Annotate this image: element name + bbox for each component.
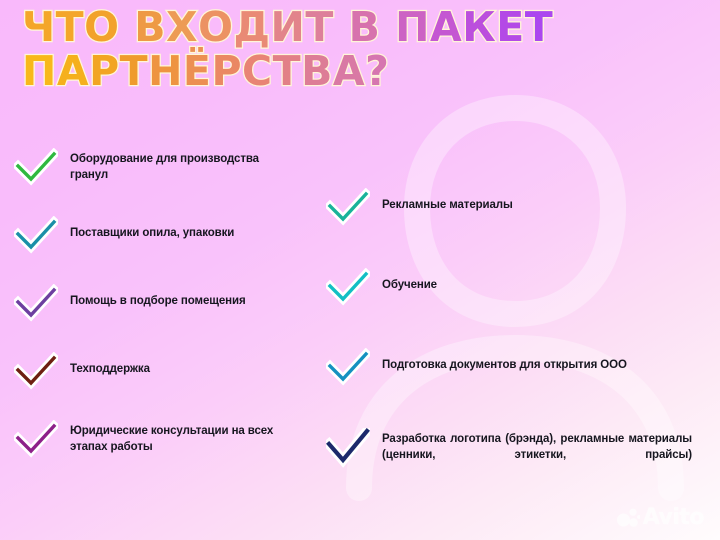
list-item-label: Подготовка документов для открытия ООО (382, 348, 692, 374)
list-item-label: Рекламные материалы (382, 188, 692, 214)
slide-title: ЧТО ВХОДИТ В ПАКЕТ ПАРТНЁРСТВА? (22, 8, 662, 92)
list-item[interactable]: Разработка логотипа (брэнда), рекламные … (326, 428, 711, 480)
title-char: В (134, 8, 166, 47)
title-char: П (395, 8, 430, 47)
list-item-label: Поставщики опила, упаковки (70, 216, 300, 242)
avito-brand-text: Avito (643, 505, 704, 530)
list-item-label: Помощь в подборе помещения (70, 284, 300, 310)
title-char: Е (496, 8, 525, 47)
title-char: Т (273, 52, 301, 91)
check-icon (326, 188, 370, 228)
title-line-1: ЧТО ВХОДИТ В ПАКЕТ (22, 8, 662, 47)
title-char (119, 8, 134, 47)
benefits-list-left: Оборудование для производства гранул Пос… (14, 148, 314, 460)
avito-watermark: Avito (616, 505, 704, 530)
list-item[interactable]: Поставщики опила, упаковки (14, 216, 314, 256)
title-char: Н (148, 52, 183, 91)
title-char: Ё (183, 52, 212, 91)
list-item[interactable]: Подготовка документов для открытия ООО (326, 348, 711, 388)
list-item-label: Обучение (382, 268, 692, 294)
slide-canvas: ЧТО ВХОДИТ В ПАКЕТ ПАРТНЁРСТВА? Оборудов… (0, 0, 720, 540)
title-char: О (198, 8, 233, 47)
check-icon (14, 148, 58, 188)
list-item[interactable]: Юридические консультации на всех этапах … (14, 420, 314, 460)
title-char: И (271, 8, 306, 47)
list-item-label: Юридические консультации на всех этапах … (70, 420, 300, 456)
title-char: С (242, 52, 273, 91)
title-char: ? (365, 52, 389, 91)
title-char: Р (211, 52, 242, 91)
check-icon (14, 284, 58, 324)
title-char: Т (120, 52, 148, 91)
title-char: В (301, 52, 333, 91)
check-icon (326, 268, 370, 308)
title-char: А (333, 52, 365, 91)
list-item-label: Оборудование для производства гранул (70, 148, 300, 184)
title-char (380, 8, 395, 47)
list-item[interactable]: Рекламные материалы (326, 188, 711, 228)
list-item-label: Техподдержка (70, 352, 300, 378)
title-char: В (349, 8, 381, 47)
title-char: Т (525, 8, 553, 47)
check-icon (14, 216, 58, 256)
list-item-label: Разработка логотипа (брэнда), рекламные … (382, 428, 692, 480)
title-char: К (462, 8, 496, 47)
list-item[interactable]: Техподдержка (14, 352, 314, 392)
title-char: Р (89, 52, 120, 91)
title-char: А (57, 52, 89, 91)
title-char: О (84, 8, 119, 47)
title-char: Ч (22, 8, 56, 47)
title-char: Т (56, 8, 84, 47)
benefits-list-right: Рекламные материалы Обучение Подготовка … (326, 188, 711, 480)
check-icon (326, 348, 370, 388)
title-char: П (22, 52, 57, 91)
title-char (334, 8, 349, 47)
list-item[interactable]: Обучение (326, 268, 711, 308)
title-char: Д (234, 8, 271, 47)
avito-logo-icon (616, 508, 640, 528)
list-item[interactable]: Оборудование для производства гранул (14, 148, 314, 188)
check-icon (326, 428, 370, 468)
title-char: А (430, 8, 462, 47)
check-icon (14, 420, 58, 460)
list-item[interactable]: Помощь в подборе помещения (14, 284, 314, 324)
check-icon (14, 352, 58, 392)
title-line-2: ПАРТНЁРСТВА? (22, 52, 662, 91)
title-char: Т (305, 8, 333, 47)
title-char: Х (166, 8, 198, 47)
